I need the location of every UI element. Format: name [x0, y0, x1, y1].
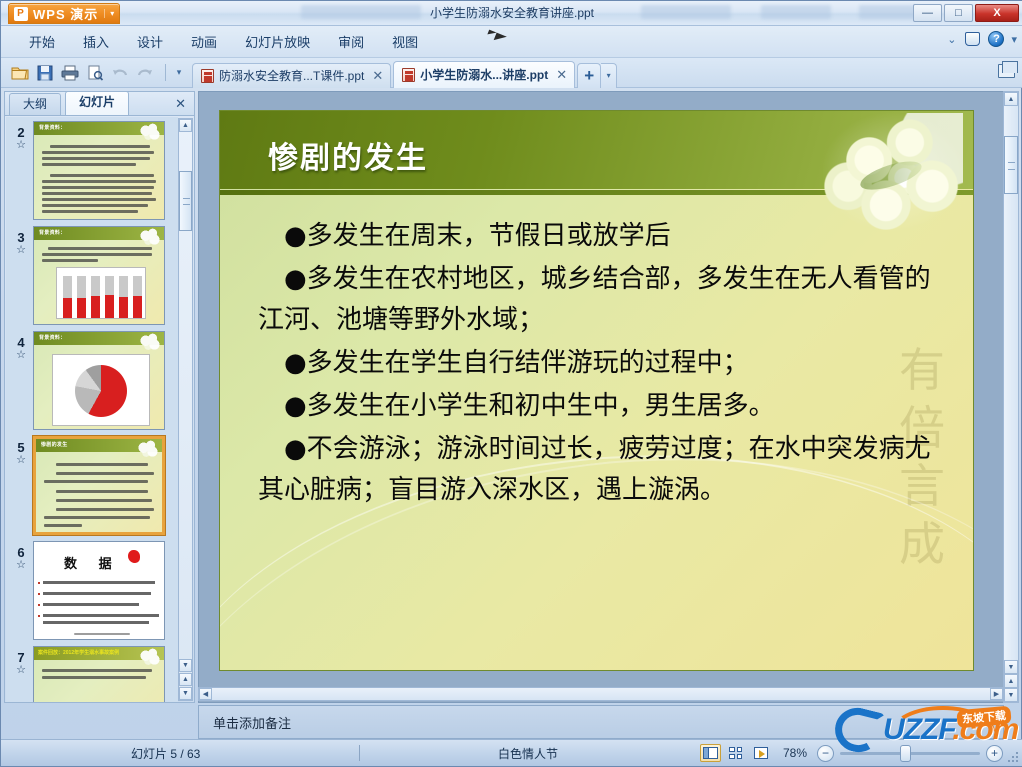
slide-bullet-4: ●多发生在小学生和初中生中，男生居多。	[258, 386, 948, 427]
slide-body-text[interactable]: ●多发生在周末，节假日或放学后 ●多发生在农村地区，城乡结合部，多发生在无人看管…	[258, 216, 948, 514]
minimize-button[interactable]: —	[913, 4, 942, 22]
play-slideshow-icon	[754, 747, 768, 759]
thumbnail-number: 7	[9, 650, 33, 665]
notes-pane[interactable]: 单击添加备注	[198, 705, 1004, 739]
document-tab-1-label: 防溺水安全教育...T课件.ppt	[219, 67, 364, 84]
menu-bar: 开始 插入 设计 动画 幻灯片放映 审阅 视图 ⌄ ? ▾	[1, 26, 1022, 58]
print-icon[interactable]	[59, 62, 81, 84]
thumbnail-preview[interactable]: 背景资料：	[33, 121, 165, 220]
window-title: 小学生防溺水安全教育讲座.ppt	[1, 1, 1022, 26]
close-panel-icon[interactable]: ✕	[175, 96, 186, 112]
slide-title[interactable]: 惨剧的发生	[268, 133, 428, 177]
document-tab-bar: 防溺水安全教育...T课件.ppt ✕ 小学生防溺水...讲座.ppt ✕ + …	[192, 58, 617, 88]
scroll-down-icon[interactable]: ▼	[1004, 660, 1018, 674]
next-slide-button[interactable]: ▼	[1004, 688, 1018, 702]
thumbnail-number: 2	[9, 125, 33, 140]
menu-item-slideshow[interactable]: 幻灯片放映	[231, 28, 324, 55]
thumbnail-item[interactable]: 6 ☆ 数 据	[6, 541, 178, 640]
close-tab-icon[interactable]: ✕	[556, 67, 567, 83]
help-dropdown-icon[interactable]: ▾	[1011, 33, 1017, 46]
slide-sorter-icon	[729, 747, 742, 759]
document-tab-2-label: 小学生防溺水...讲座.ppt	[420, 66, 548, 83]
ppt-file-icon	[201, 69, 214, 83]
animation-star-icon: ☆	[9, 560, 33, 571]
slide-bullet-5: ●不会游泳；游泳时间过长，疲劳过度；在水中突发病尤其心脏病；盲目游入深水区，遇上…	[258, 429, 948, 511]
document-tab-2[interactable]: 小学生防溺水...讲座.ppt ✕	[393, 61, 575, 88]
tab-outline[interactable]: 大纲	[9, 93, 61, 115]
animation-star-icon: ☆	[9, 140, 33, 151]
resize-grip[interactable]	[1007, 751, 1019, 763]
window-controls: — □ X	[913, 4, 1019, 22]
thumbnail-item[interactable]: 2 ☆ 背景资料：	[6, 121, 178, 220]
zoom-percentage: 78%	[783, 746, 807, 760]
scroll-left-icon[interactable]: ◀	[199, 688, 212, 700]
theme-name: 白色情人节	[498, 745, 558, 762]
current-slide[interactable]: 惨剧的发生 有倍言成 ●多发生在周末，节假日或放学后 ●多发生在农村地区，城乡结…	[219, 110, 974, 671]
status-bar: 幻灯片 5 / 63 白色情人节 78% − +	[1, 739, 1022, 766]
scroll-thumb[interactable]	[179, 171, 192, 231]
zoom-slider-control[interactable]: − +	[817, 745, 1003, 762]
slide-show-button[interactable]	[750, 744, 771, 762]
menu-item-view[interactable]: 视图	[378, 28, 432, 55]
thumbnail-list[interactable]: 2 ☆ 背景资料：	[6, 117, 178, 702]
previous-slide-button[interactable]: ▲	[1004, 674, 1018, 688]
undo-icon[interactable]	[109, 62, 131, 84]
thumbnail-item[interactable]: 7 ☆ 案件回放：2012年学生溺水事故案例	[6, 646, 178, 702]
thumbnail-preview[interactable]: 背景资料：	[33, 331, 165, 430]
slide-sorter-button[interactable]	[725, 744, 746, 762]
scroll-up-icon[interactable]: ▲	[1004, 92, 1018, 106]
scroll-up-icon[interactable]: ▲	[179, 119, 192, 132]
restore-icon	[998, 64, 1015, 78]
normal-view-button[interactable]	[700, 744, 721, 762]
panel-tab-bar: 大纲 幻灯片 ✕	[5, 92, 194, 116]
status-divider	[359, 745, 360, 761]
animation-star-icon: ☆	[9, 350, 33, 361]
skin-icon[interactable]	[963, 30, 981, 48]
print-preview-icon[interactable]	[84, 62, 106, 84]
scroll-right-icon[interactable]: ▶	[990, 688, 1003, 700]
white-roses-image	[823, 113, 963, 231]
close-tab-icon[interactable]: ✕	[372, 68, 383, 84]
title-bar: P WPS 演示 ▾ 小学生防溺水安全教育讲座.ppt — □ X	[1, 1, 1022, 26]
slide-counter: 幻灯片 5 / 63	[131, 745, 200, 762]
scroll-thumb[interactable]	[1004, 136, 1018, 194]
zoom-slider-knob[interactable]	[900, 745, 911, 762]
menu-item-animation[interactable]: 动画	[177, 28, 231, 55]
thumbnail-preview[interactable]: 数 据	[33, 541, 165, 640]
animation-star-icon: ☆	[9, 665, 33, 676]
next-slide-icon[interactable]: ▼	[179, 687, 192, 700]
slide-bullet-2: ●多发生在农村地区，城乡结合部，多发生在无人看管的江河、池塘等野外水域；	[258, 259, 948, 341]
tab-slides[interactable]: 幻灯片	[65, 91, 129, 115]
chevron-down-icon[interactable]: ⌄	[947, 33, 956, 46]
maximize-button[interactable]: □	[944, 4, 973, 22]
animation-star-icon: ☆	[9, 455, 33, 466]
thumbnail-preview[interactable]: 案件回放：2012年学生溺水事故案例	[33, 646, 165, 702]
thumbnail-number: 4	[9, 335, 33, 350]
quick-access-toolbar: ▾ 防溺水安全教育...T课件.ppt ✕ 小学生防溺水...讲座.ppt ✕ …	[1, 58, 1022, 88]
document-tab-1[interactable]: 防溺水安全教育...T课件.ppt ✕	[192, 63, 391, 88]
thumbnail-item[interactable]: 3 ☆ 背景资料：	[6, 226, 178, 325]
thumbnail-number: 3	[9, 230, 33, 245]
new-document-button[interactable]: +	[577, 63, 601, 88]
slide-thumbnail-panel: 大纲 幻灯片 ✕ 2 ☆ 背景资料：	[4, 91, 195, 703]
slide-bullet-3: ●多发生在学生自行结伴游玩的过程中；	[258, 343, 948, 384]
zoom-slider-track[interactable]	[840, 752, 980, 755]
close-button[interactable]: X	[975, 4, 1019, 22]
toolbar-more-icon[interactable]: ▾	[172, 67, 186, 78]
open-folder-icon[interactable]	[9, 62, 31, 84]
slide-vertical-scrollbar[interactable]: ▲ ▼ ▲ ▼	[1003, 91, 1019, 703]
new-document-caret-icon[interactable]: ▾	[601, 63, 617, 88]
wps-presentation-window: P WPS 演示 ▾ 小学生防溺水安全教育讲座.ppt — □ X 开始 插入 …	[0, 0, 1022, 767]
thumbnail-number: 6	[9, 545, 33, 560]
animation-star-icon: ☆	[9, 245, 33, 256]
menu-item-insert[interactable]: 插入	[69, 28, 123, 55]
thumbnail-number: 5	[9, 440, 33, 455]
restore-window-button[interactable]	[998, 64, 1015, 78]
scroll-down-icon[interactable]: ▼	[179, 659, 192, 672]
thumbnail-scrollbar[interactable]: ▲ ▼ ▲ ▼	[178, 118, 193, 701]
ppt-file-icon	[402, 68, 415, 82]
thumbnail-item[interactable]: 4 ☆ 背景资料：	[6, 331, 178, 430]
view-buttons	[700, 744, 771, 762]
normal-view-icon	[703, 747, 718, 759]
zoom-in-button[interactable]: +	[986, 745, 1003, 762]
slide-editing-area[interactable]: 惨剧的发生 有倍言成 ●多发生在周末，节假日或放学后 ●多发生在农村地区，城乡结…	[198, 91, 1004, 703]
thumbnail-item-selected[interactable]: 5 ☆ 惨剧的发生	[6, 436, 178, 535]
menu-item-review[interactable]: 审阅	[324, 28, 378, 55]
menu-item-home[interactable]: 开始	[15, 28, 69, 55]
save-icon[interactable]	[34, 62, 56, 84]
zoom-out-button[interactable]: −	[817, 745, 834, 762]
thumbnail-preview[interactable]: 惨剧的发生	[33, 436, 165, 535]
menu-item-design[interactable]: 设计	[123, 28, 177, 55]
slide-bullet-1: ●多发生在周末，节假日或放学后	[258, 216, 948, 257]
help-icon[interactable]: ?	[988, 31, 1004, 47]
redo-icon[interactable]	[134, 62, 156, 84]
slide-horizontal-scrollbar[interactable]: ◀ ▶	[198, 687, 1004, 701]
previous-slide-icon[interactable]: ▲	[179, 673, 192, 686]
thumbnail-preview[interactable]: 背景资料：	[33, 226, 165, 325]
